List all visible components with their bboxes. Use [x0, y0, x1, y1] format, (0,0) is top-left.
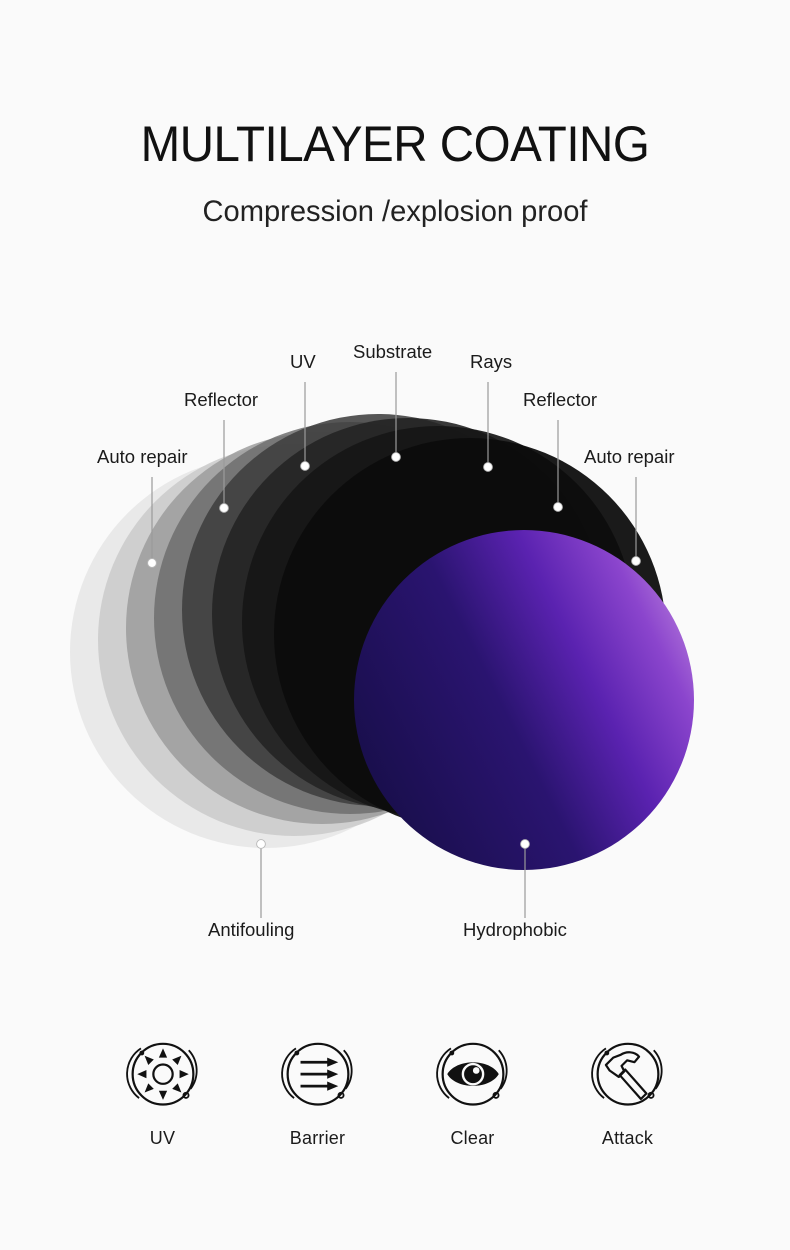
- diagram-label-auto-repair-left: Auto repair: [97, 446, 188, 467]
- leader-dot-uv: [301, 462, 310, 471]
- arrows-barrier-icon: [270, 1030, 366, 1122]
- page-subtitle: Compression /explosion proof: [12, 195, 778, 229]
- diagram-label-reflector-right: Reflector: [523, 389, 597, 410]
- feature-barrier[interactable]: Barrier: [240, 1030, 395, 1149]
- feature-icons-row: UV: [0, 1030, 790, 1149]
- diagram-label-rays: Rays: [470, 351, 512, 372]
- leader-dot-auto-repair-left: [148, 559, 157, 568]
- coating-layer-stack: [70, 414, 694, 870]
- diagram-label-reflector-left: Reflector: [184, 389, 258, 410]
- feature-attack[interactable]: Attack: [550, 1030, 705, 1149]
- leader-dot-substrate: [392, 453, 401, 462]
- diagram-label-uv: UV: [290, 351, 316, 372]
- feature-label: Barrier: [290, 1128, 345, 1149]
- multilayer-coating-diagram: Auto repairReflectorUVSubstrateRaysRefle…: [0, 340, 790, 980]
- eye-clear-icon: [425, 1030, 521, 1122]
- diagram-label-antifouling: Antifouling: [208, 919, 294, 940]
- feature-clear[interactable]: Clear: [395, 1030, 550, 1149]
- page-title: MULTILAYER COATING: [20, 118, 771, 171]
- feature-uv[interactable]: UV: [85, 1030, 240, 1149]
- leader-dot-rays: [484, 463, 493, 472]
- sun-uv-icon: [115, 1030, 211, 1122]
- leader-dot-antifouling: [257, 840, 266, 849]
- coating-infographic-page: MULTILAYER COATING Compression /explosio…: [0, 0, 790, 1250]
- feature-label: UV: [150, 1128, 175, 1149]
- leader-dot-reflector-left: [220, 504, 229, 513]
- header: MULTILAYER COATING Compression /explosio…: [0, 118, 790, 229]
- feature-label: Clear: [450, 1128, 494, 1149]
- layer-hydrophobic: [354, 530, 694, 870]
- leader-dot-auto-repair-right: [632, 557, 641, 566]
- leader-dot-reflector-right: [554, 503, 563, 512]
- diagram-label-hydrophobic: Hydrophobic: [463, 919, 567, 940]
- hammer-attack-icon: [580, 1030, 676, 1122]
- feature-label: Attack: [602, 1128, 653, 1149]
- leader-dot-hydrophobic: [521, 840, 530, 849]
- diagram-label-substrate: Substrate: [353, 341, 432, 362]
- diagram-label-auto-repair-right: Auto repair: [584, 446, 675, 467]
